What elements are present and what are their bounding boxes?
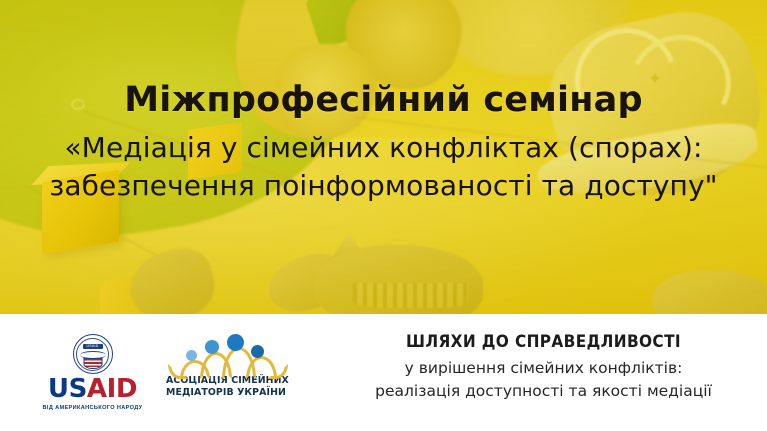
- usaid-seal-banner-label: USAID: [83, 344, 103, 349]
- slogan-title: ШЛЯХИ ДО СПРАВЕДЛИВОСТІ: [336, 332, 752, 352]
- usaid-seal-shield-icon: [83, 358, 102, 369]
- poster: ✦ Міжпрофесійний семінар «Медіація у сім…: [0, 0, 767, 431]
- asmu-logo: АСОЦІАЦІЯ СІМЕЙНИХ МЕДІАТОРІВ УКРАЇНИ: [166, 332, 286, 398]
- slogan-block: ШЛЯХИ ДО СПРАВЕДЛИВОСТІ у вирішення сіме…: [320, 314, 767, 403]
- slogan-line-1: у вирішення сімейних конфліктів:: [320, 357, 767, 380]
- usaid-wordmark-aid: AID: [87, 374, 137, 404]
- page-subtitle-line-1: «Медіація у сімейних конфліктах (спорах)…: [64, 131, 702, 164]
- page-title: Міжпрофесійний семінар: [0, 80, 767, 121]
- asmu-head-dot: [251, 345, 264, 358]
- hero-banner: ✦ Міжпрофесійний семінар «Медіація у сім…: [0, 0, 767, 314]
- page-subtitle-line-2: забезпечення поінформованості та доступу…: [0, 167, 767, 205]
- asmu-logo-line-2: МЕДІАТОРІВ УКРАЇНИ: [166, 387, 286, 399]
- usaid-wordmark: USAID: [40, 376, 145, 403]
- asmu-head-dot: [227, 334, 244, 351]
- slogan-line-2: реалізація доступності та якості медіаці…: [320, 380, 767, 403]
- page-subtitle: «Медіація у сімейних конфліктах (спорах)…: [0, 129, 767, 205]
- asmu-people-icon: [170, 332, 282, 372]
- asmu-head-dot: [205, 340, 219, 354]
- asmu-head-dot: [186, 350, 197, 361]
- usaid-logo: USAID USAID ВІД АМЕРИКАНСЬКОГО НАРОДУ: [40, 334, 145, 411]
- logo-group: USAID USAID ВІД АМЕРИКАНСЬКОГО НАРОДУ: [0, 314, 320, 431]
- usaid-seal-banner: USAID: [83, 344, 103, 349]
- usaid-wordmark-us: US: [48, 374, 87, 404]
- usaid-seal-icon: USAID: [73, 334, 113, 374]
- usaid-tagline: ВІД АМЕРИКАНСЬКОГО НАРОДУ: [40, 405, 145, 411]
- hero-text-block: Міжпрофесійний семінар «Медіація у сімей…: [0, 80, 767, 205]
- footer-bar: USAID USAID ВІД АМЕРИКАНСЬКОГО НАРОДУ: [0, 314, 767, 431]
